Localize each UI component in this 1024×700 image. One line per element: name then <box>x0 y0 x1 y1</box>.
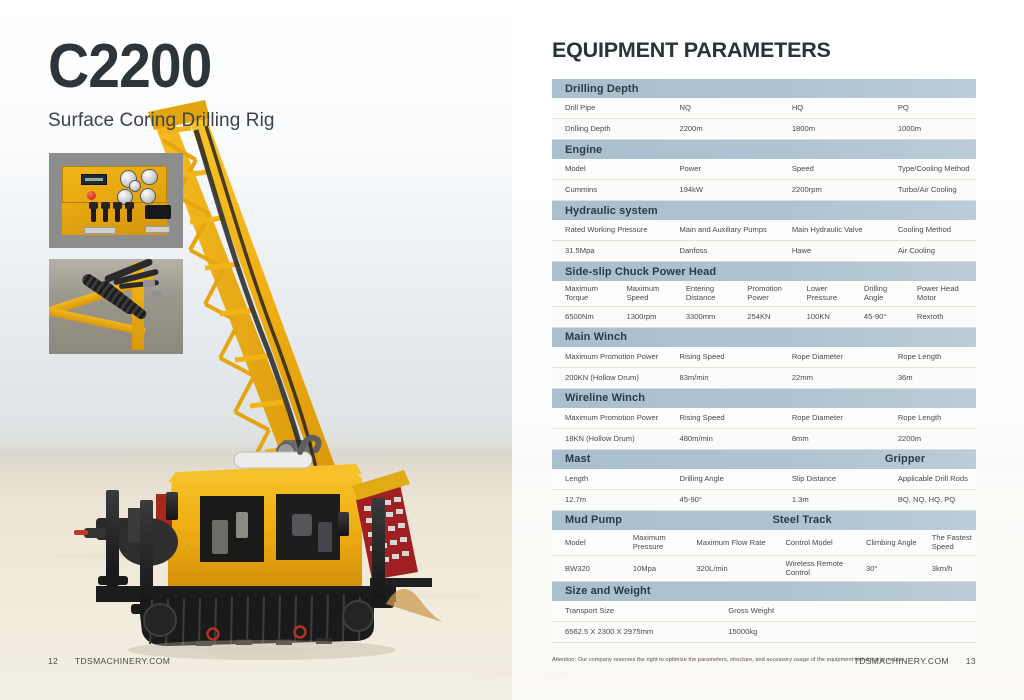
rear-control-console <box>352 470 432 587</box>
table-cell: 1000m <box>885 124 976 133</box>
section-band-label: Main Winch <box>552 331 627 343</box>
table-header-cell: Applicable Drill Rods <box>885 474 976 483</box>
table-cell: 100KN <box>794 312 851 321</box>
left-footer-website: TDSMACHINERY.COM <box>75 656 170 666</box>
table-cell: 36m <box>885 373 976 382</box>
table-cell: 3300mm <box>673 312 734 321</box>
right-page-footer: TDSMACHINERY.COM 13 <box>854 656 976 666</box>
table-header-cell: Rope Diameter <box>779 352 885 361</box>
model-name: C2200 <box>48 36 256 98</box>
table-header-cell: The Fastest Speed <box>919 533 976 552</box>
table-cell: 480m/min <box>666 434 778 443</box>
table-header-cell: Rope Diameter <box>779 413 885 422</box>
section-band-label: Wireline Winch <box>552 392 645 404</box>
table-cell: 320L/min <box>683 564 772 573</box>
table-cell: 2200m <box>666 124 778 133</box>
section-band-label: Drilling Depth <box>552 83 639 95</box>
table-header-row: Transport SizeGross Weight <box>552 601 976 622</box>
table-cell: 3km/h <box>919 564 976 573</box>
table-header-cell: Main Hydraulic Valve <box>779 225 885 234</box>
table-row: 6500Nm1300rpm3300mm254KN100KN45-90°Rexro… <box>552 307 976 328</box>
table-header-cell: Model <box>552 538 620 547</box>
table-header-row: Rated Working PressureMain and Auxiliary… <box>552 220 976 241</box>
table-header-cell: Speed <box>779 164 885 173</box>
table-row: 31.5MpaDanfossHaweAir Cooling <box>552 241 976 262</box>
table-cell: Drilling Depth <box>552 124 666 133</box>
section-band: Size and Weight <box>552 582 976 601</box>
table-cell: 1300rpm <box>613 312 672 321</box>
section-band: Hydraulic system <box>552 201 976 220</box>
table-row: Drilling Depth2200m1800m1000m <box>552 119 976 140</box>
table-cell: 2200rpm <box>779 185 885 194</box>
table-cell: Wireless Remote Control <box>772 559 853 578</box>
table-header-cell: Maximum Promotion Power <box>552 352 666 361</box>
table-header-row: Drill PipeNQHQPQ <box>552 98 976 119</box>
table-cell: 15000kg <box>715 627 976 636</box>
table-cell: Air Cooling <box>885 246 976 255</box>
table-cell: 22mm <box>779 373 885 382</box>
table-cell: Rexroth <box>904 312 976 321</box>
table-cell: 45-90° <box>851 312 904 321</box>
section-band-label: Mast <box>552 453 590 465</box>
rig-body <box>74 438 442 660</box>
table-row: BW32010Mpa320L/minWireless Remote Contro… <box>552 556 976 582</box>
control-panel-photo <box>49 153 183 248</box>
table-header-cell: Type/Cooling Method <box>885 164 976 173</box>
section-band: Drilling Depth <box>552 79 976 98</box>
table-header-cell: Maximum Torque <box>552 284 613 303</box>
table-header-cell: Rising Speed <box>666 413 778 422</box>
table-header-cell: Rope Length <box>885 352 976 361</box>
table-cell: Danfoss <box>666 246 778 255</box>
table-cell: BQ, NQ, HQ, PQ <box>885 495 976 504</box>
section-band-label: Side-slip Chuck Power Head <box>552 266 716 278</box>
left-page-number: 12 <box>48 656 58 666</box>
table-cell: Hawe <box>779 246 885 255</box>
left-page-footer: 12 TDSMACHINERY.COM <box>48 656 170 666</box>
table-header-cell: Maximum Promotion Power <box>552 413 666 422</box>
table-cell: 31.5Mpa <box>552 246 666 255</box>
section-band-label: Engine <box>552 144 602 156</box>
table-header-cell: Transport Size <box>552 606 715 615</box>
table-header-cell: Rising Speed <box>666 352 778 361</box>
table-row: 200KN (Hollow Drum)83m/min22mm36m <box>552 368 976 389</box>
section-band-label: Hydraulic system <box>552 205 658 217</box>
table-header-cell: PQ <box>885 103 976 112</box>
table-header-cell: NQ <box>666 103 778 112</box>
table-row: 6562.5 X 2300 X 2975mm15000kg <box>552 622 976 643</box>
table-cell: Cummins <box>552 185 666 194</box>
equipment-parameters-panel: EQUIPMENT PARAMETERS Drilling DepthDrill… <box>552 38 976 665</box>
table-cell: 12.7m <box>552 495 666 504</box>
table-header-row: Maximum Promotion PowerRising SpeedRope … <box>552 347 976 368</box>
table-header-cell: Drilling Angle <box>666 474 778 483</box>
table-header-cell: Entering Distance <box>673 284 734 303</box>
table-header-cell: Drilling Angle <box>851 284 904 303</box>
table-cell: 10Mpa <box>620 564 684 573</box>
section-band-label: Size and Weight <box>552 585 651 597</box>
table-header-cell: Maximum Speed <box>613 284 672 303</box>
section-band: Side-slip Chuck Power Head <box>552 262 976 281</box>
table-cell: 2200m <box>885 434 976 443</box>
table-header-row: ModelPowerSpeedType/Cooling Method <box>552 159 976 180</box>
crawler-track <box>140 594 374 646</box>
table-header-cell: Cooling Method <box>885 225 976 234</box>
table-header-cell: Control Model <box>772 538 853 547</box>
table-header-cell: Length <box>552 474 666 483</box>
table-row: 18KN (Hollow Drum)480m/min8mm2200m <box>552 429 976 450</box>
table-header-cell: Power <box>666 164 778 173</box>
table-cell: Turbo/Air Cooling <box>885 185 976 194</box>
section-band-label: Mud Pump <box>552 514 622 526</box>
table-header-row: Maximum TorqueMaximum SpeedEntering Dist… <box>552 281 976 307</box>
table-header-cell: Maximum Pressure <box>620 533 684 552</box>
model-subtitle: Surface Coring Drilling Rig <box>48 110 275 132</box>
table-cell: 6562.5 X 2300 X 2975mm <box>552 627 715 636</box>
table-header-cell: Maximum Flow Rate <box>683 538 772 547</box>
section-band: Mud PumpSteel Track <box>552 511 976 530</box>
hydraulic-hoses-photo <box>49 259 183 354</box>
brochure-page: C2200 Surface Coring Drilling Rig <box>0 0 1024 700</box>
table-cell: 1800m <box>779 124 885 133</box>
table-header-cell: Promotion Power <box>734 284 793 303</box>
table-header-cell: Power Head Motor <box>904 284 976 303</box>
table-header-row: Maximum Promotion PowerRising SpeedRope … <box>552 408 976 429</box>
table-header-cell: Climbing Angle <box>853 538 919 547</box>
section-band: Engine <box>552 140 976 159</box>
table-header-row: ModelMaximum PressureMaximum Flow RateCo… <box>552 530 976 556</box>
right-page-number: 13 <box>966 656 976 666</box>
table-cell: 194kW <box>666 185 778 194</box>
table-header-cell: Rope Length <box>885 413 976 422</box>
table-cell: 6500Nm <box>552 312 613 321</box>
table-header-cell: Model <box>552 164 666 173</box>
table-header-cell: Rated Working Pressure <box>552 225 666 234</box>
right-footer-website: TDSMACHINERY.COM <box>854 656 949 666</box>
table-cell: 45-90° <box>666 495 778 504</box>
table-row: Cummins194kW2200rpmTurbo/Air Cooling <box>552 180 976 201</box>
table-header-cell: Gross Weight <box>715 606 976 615</box>
table-cell: 18KN (Hollow Drum) <box>552 434 666 443</box>
section-band: Main Winch <box>552 328 976 347</box>
hero-title-block: C2200 Surface Coring Drilling Rig <box>48 36 275 132</box>
table-cell: 83m/min <box>666 373 778 382</box>
table-header-row: LengthDrilling AngleSlip DistanceApplica… <box>552 469 976 490</box>
table-cell: 254KN <box>734 312 793 321</box>
section-band: Wireline Winch <box>552 389 976 408</box>
section-band: MastGripper <box>552 450 976 469</box>
spec-table: Drilling DepthDrill PipeNQHQPQDrilling D… <box>552 79 976 643</box>
table-row: 12.7m45-90°1.3mBQ, NQ, HQ, PQ <box>552 490 976 511</box>
section-band-label-secondary: Steel Track <box>772 514 831 526</box>
table-header-cell: Slip Distance <box>779 474 885 483</box>
table-header-cell: Lower Pressure <box>794 284 851 303</box>
table-cell: 8mm <box>779 434 885 443</box>
table-header-cell: Drill Pipe <box>552 103 666 112</box>
table-cell: 200KN (Hollow Drum) <box>552 373 666 382</box>
table-cell: 1.3m <box>779 495 885 504</box>
page-title: EQUIPMENT PARAMETERS <box>552 38 976 63</box>
table-cell: 30° <box>853 564 919 573</box>
table-cell: BW320 <box>552 564 620 573</box>
table-header-cell: Main and Auxiliary Pumps <box>666 225 778 234</box>
section-band-label-secondary: Gripper <box>885 453 925 465</box>
table-header-cell: HQ <box>779 103 885 112</box>
